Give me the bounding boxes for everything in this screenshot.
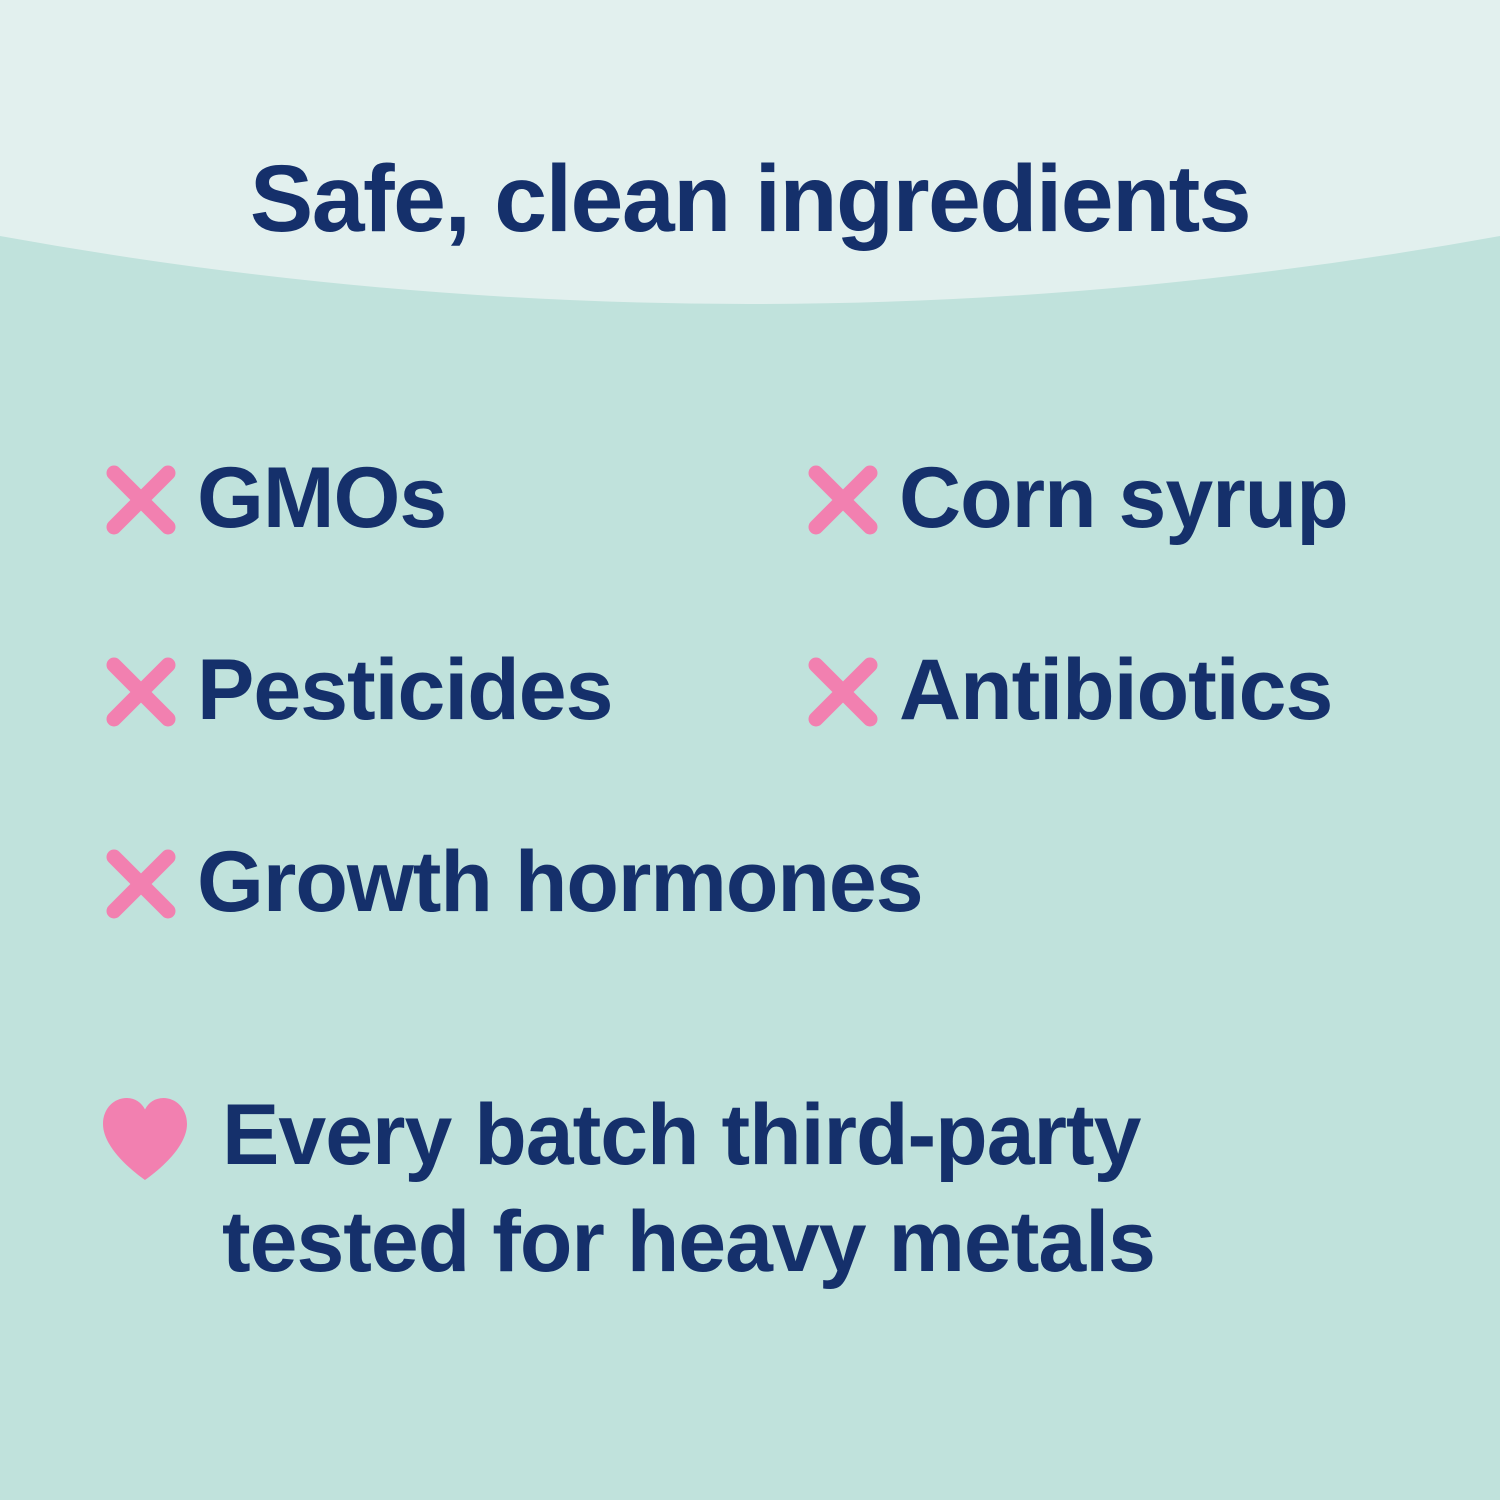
ingredient-exclusion-list: GMOs Corn syrup [0, 430, 1500, 1006]
x-mark-icon [103, 654, 179, 730]
item-row: GMOs Corn syrup [0, 430, 1500, 622]
item-row: Growth hormones [0, 814, 1500, 1006]
list-item-corn-syrup: Corn syrup [805, 430, 1348, 570]
list-item-growth-hormones: Growth hormones [103, 814, 923, 954]
safe-clean-ingredients-poster: Safe, clean ingredients GMOs [0, 0, 1500, 1500]
heart-icon [100, 1096, 190, 1182]
list-item-label: Antibiotics [899, 647, 1332, 733]
page-title: Safe, clean ingredients [0, 152, 1500, 247]
list-item-gmos: GMOs [103, 430, 446, 570]
list-item-pesticides: Pesticides [103, 622, 612, 762]
x-mark-icon [805, 654, 881, 730]
x-mark-icon [103, 462, 179, 538]
x-mark-icon [805, 462, 881, 538]
x-mark-icon [103, 846, 179, 922]
list-item-label: Growth hormones [197, 839, 923, 925]
highlight-text: Every batch third-party tested for heavy… [222, 1082, 1342, 1295]
list-item-label: GMOs [197, 455, 446, 541]
third-party-testing-highlight: Every batch third-party tested for heavy… [100, 1082, 1430, 1295]
list-item-label: Corn syrup [899, 455, 1348, 541]
list-item-antibiotics: Antibiotics [805, 622, 1332, 762]
list-item-label: Pesticides [197, 647, 612, 733]
item-row: Pesticides Antibiotics [0, 622, 1500, 814]
